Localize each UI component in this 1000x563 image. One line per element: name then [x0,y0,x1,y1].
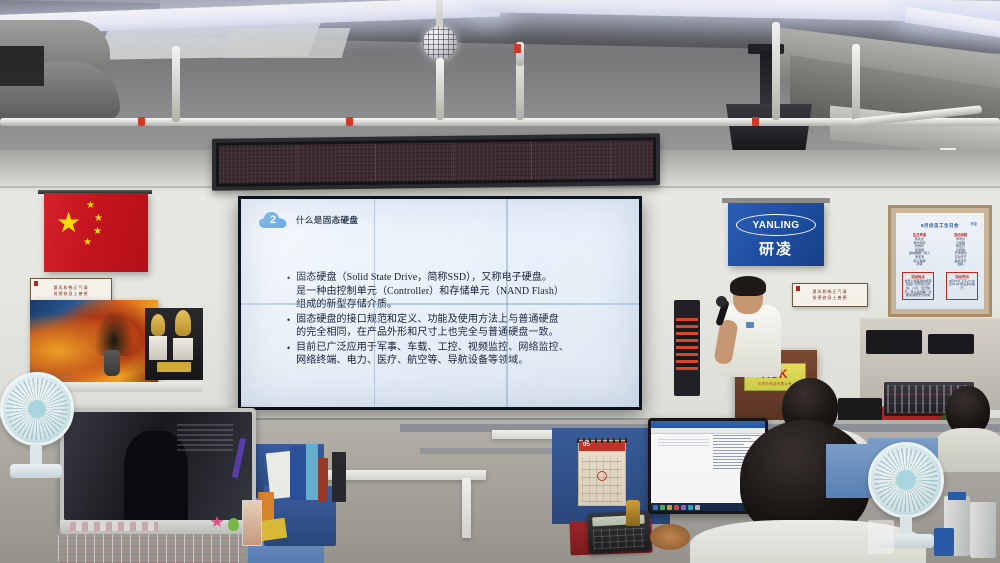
video-wall-screen[interactable]: 2 什么是固态硬盘 • 固态硬盘（Solid State Drive，简称SSD… [241,199,639,407]
trophy-icon [175,310,191,336]
poster-footer-text: 世界上最美丽的笑容就是八月份生日的您，八月，生日快乐，愿以后的每一天都充满阳光与… [904,280,932,298]
monitor-stickers [70,522,158,531]
fan-base [10,464,62,478]
taskbar-icon[interactable] [681,505,686,510]
taskbar-icon[interactable] [653,505,658,510]
slide-badge-number: 2 [259,211,287,229]
poster-footer-heading: 活动地点 [904,274,932,279]
taskbar-icon[interactable] [695,505,700,510]
podium-subtitle-text: 讯思凯科技有限公司 [758,381,792,386]
pipe-marker [752,117,759,126]
taskbar-icon[interactable] [688,505,693,510]
taskbar-icon[interactable] [660,505,665,510]
bullet-line: 组成的新型存储介质。 [296,299,397,310]
app-titlebar [651,421,765,428]
pink-keyboard[interactable] [58,534,244,563]
bullet-line: 网络终端、电力、医疗、航空等、导航设备等领域。 [296,355,528,366]
equipment-box [866,330,922,354]
bullet-marker: • [287,313,290,340]
bullet-line: 是一种由控制单元（Controller）和存储单元（NAND Flash） [296,286,564,297]
bullet-content: 目前已广泛应用于军事、车载、工控、视频监控、网络监控、 网络终端、电力、医疗、航… [296,341,569,368]
monitor-screen[interactable] [64,412,252,520]
poster-footer-heading: 活动时间 [948,274,976,279]
fan-hub [28,400,46,418]
all-in-one-monitor[interactable] [60,408,256,524]
ceiling-panel [222,28,351,58]
paper-cup [868,520,894,554]
water-bottle[interactable] [970,502,996,558]
bullet-line: 的完全相同，在产品外形和尺寸上也完全与普通硬盘一致。 [296,327,559,338]
shirt-logo [746,322,754,328]
flag-star-icon: ★ [94,214,103,224]
fan-hub [896,470,916,490]
trophy-display-shelf [145,308,203,380]
mirror-ball-icon [423,26,457,60]
green-figurine [228,518,239,531]
folder-cyan [306,444,318,500]
sprinkler-pipe [436,58,444,120]
ceiling-speaker-icon [726,104,812,152]
slide-header: 2 什么是固态硬盘 [259,211,358,229]
slide-bullet: • 固态硬盘的接口规范和定义、功能及使用方法上与普通硬盘 的完全相同，在产品外形… [287,313,625,340]
bullet-marker: • [287,341,290,368]
flag-star-icon: ★ [83,238,92,248]
cloud-icon: 2 [259,211,287,229]
snack-item [650,524,690,550]
led-banner-board [212,133,660,190]
trophy-base [149,336,167,360]
flag-star-icon: ★ [56,209,81,237]
brand-chinese-text: 研凌 [728,238,824,259]
audience-shoulders [934,428,1000,472]
poster-item: 拍照 [942,263,979,267]
trophy-base [173,338,193,360]
video-wall[interactable]: 2 什么是固态硬盘 • 固态硬盘（Solid State Drive，简称SSD… [238,196,642,410]
taskbar-icon[interactable] [674,505,679,510]
poster-footer-text: 8月23日 下午17:30至19:00 研凌多功能厅 [948,280,976,291]
seal-icon [34,281,38,286]
poster-footer-left: 活动地点 世界上最美丽的笑容就是八月份生日的您，八月，生日快乐，愿以后的每一天都… [902,272,934,300]
sprinkler-pipe [172,46,180,122]
presenter-hair [730,276,766,296]
poster-footer-right: 活动时间 8月23日 下午17:30至19:00 研凌多功能厅 [946,272,978,300]
bullet-marker: • [287,271,290,312]
led-banner-surface [219,140,653,183]
rack-indicator-lights [676,318,698,370]
trophy-icon [151,314,165,336]
slide-title: 什么是固态硬盘 [296,214,358,226]
desk-leg [462,478,471,538]
chinese-national-flag: ★ ★ ★ ★ ★ [44,193,148,272]
calculator-keys[interactable] [593,527,646,550]
bullet-content: 固态硬盘（Solid State Drive，简称SSD），又称电子硬盘。 是一… [296,271,564,312]
calligraphy-line: 贤德修身上善德 [54,291,89,297]
birthday-poster: 研凌 8月份员工生日会 生日寿星 陈永龙 黄志伟华 刘春华 吴丽娟 郑林翔翔一家… [896,213,984,309]
seal-icon [796,286,800,291]
taskbar-icon[interactable] [667,505,672,510]
figurine-gold [626,500,640,526]
calligraphy-line: 贤德修身上善德 [813,295,848,301]
vase [104,350,120,376]
calendar-month: 05 [583,442,590,448]
sprinkler-pipe [0,118,1000,126]
binder-black [332,452,346,502]
bullet-line: 目前已广泛应用于军事、车载、工控、视频监控、网络监控、 [296,342,569,353]
bullet-line: 固态硬盘的接口规范和定义、功能及使用方法上与普通硬盘 [296,314,559,325]
reflected-window [177,423,233,451]
bottle-cap [948,492,966,500]
video-wall-seam [241,303,639,305]
poster-footer: 活动地点 世界上最美丽的笑容就是八月份生日的您，八月，生日快乐，愿以后的每一天都… [896,270,984,302]
slide-bullet: • 目前已广泛应用于军事、车载、工控、视频监控、网络监控、 网络终端、电力、医疗… [287,341,625,368]
equipment-box [928,334,974,354]
poster-column: 生日寿星 陈永龙 黄志伟华 刘春华 吴丽娟 郑林翔翔一家人 李亚萍 陈小珠娜 周… [901,232,938,267]
framed-calligraphy-right: 惠风和畅正气清 贤德修身上善德 [792,283,868,307]
slide-bullet: • 固态硬盘（Solid State Drive，简称SSD），又称电子硬盘。 … [287,271,625,312]
poster-column: 活动流程 李司仪 分蛋糕 唱生日 许愿歌 开场游戏 互动环节 抽奖环节 拍照 [942,232,979,267]
microphone-head-icon [716,296,727,307]
yanling-logo-ellipse: YANLING [736,214,816,236]
calendar-today-marker [597,471,607,481]
calculator[interactable] [587,510,651,553]
birthday-poster-frame: 研凌 8月份员工生日会 生日寿星 陈永龙 黄志伟华 刘春华 吴丽娟 郑林翔翔一家… [888,205,992,317]
slide-body: • 固态硬盘（Solid State Drive，简称SSD），又称电子硬盘。 … [287,271,625,369]
blue-carton [934,528,954,556]
yanling-brand-banner: YANLING 研凌 [728,202,824,266]
poster-columns: 生日寿星 陈永龙 黄志伟华 刘春华 吴丽娟 郑林翔翔一家人 李亚萍 陈小珠娜 周… [896,229,984,270]
flag-star-icon: ★ [86,201,95,211]
duct-fitting [0,46,44,86]
folder-red [318,458,328,502]
room-photo-scene: ★ ★ ★ ★ ★ 惠风和畅正气清 贤德修身上善德 惠风和畅正气清 贤德修身上善… [0,0,1000,563]
brand-latin-text: YANLING [753,220,800,231]
sprinkler-pipe [852,44,860,122]
poster-item: 周蓉 [901,263,938,267]
bullet-line: 固态硬盘（Solid State Drive，简称SSD），又称电子硬盘。 [296,272,552,283]
trophy-plaque [157,362,191,372]
poster-badge: 研凌 [971,221,977,226]
flag-star-icon: ★ [93,227,102,237]
pipe-marker [138,117,145,126]
banner-rod [722,198,830,203]
pipe-marker [514,44,521,53]
bullet-content: 固态硬盘的接口规范和定义、功能及使用方法上与普通硬盘 的完全相同，在产品外形和尺… [296,313,559,340]
document-page [654,437,713,501]
sprinkler-pipe [772,22,780,120]
photo-card [242,500,262,546]
dried-plant [92,306,136,356]
desk-calendar: 05 [578,440,626,506]
pipe-marker [346,117,353,126]
speaker-stem [760,50,772,106]
